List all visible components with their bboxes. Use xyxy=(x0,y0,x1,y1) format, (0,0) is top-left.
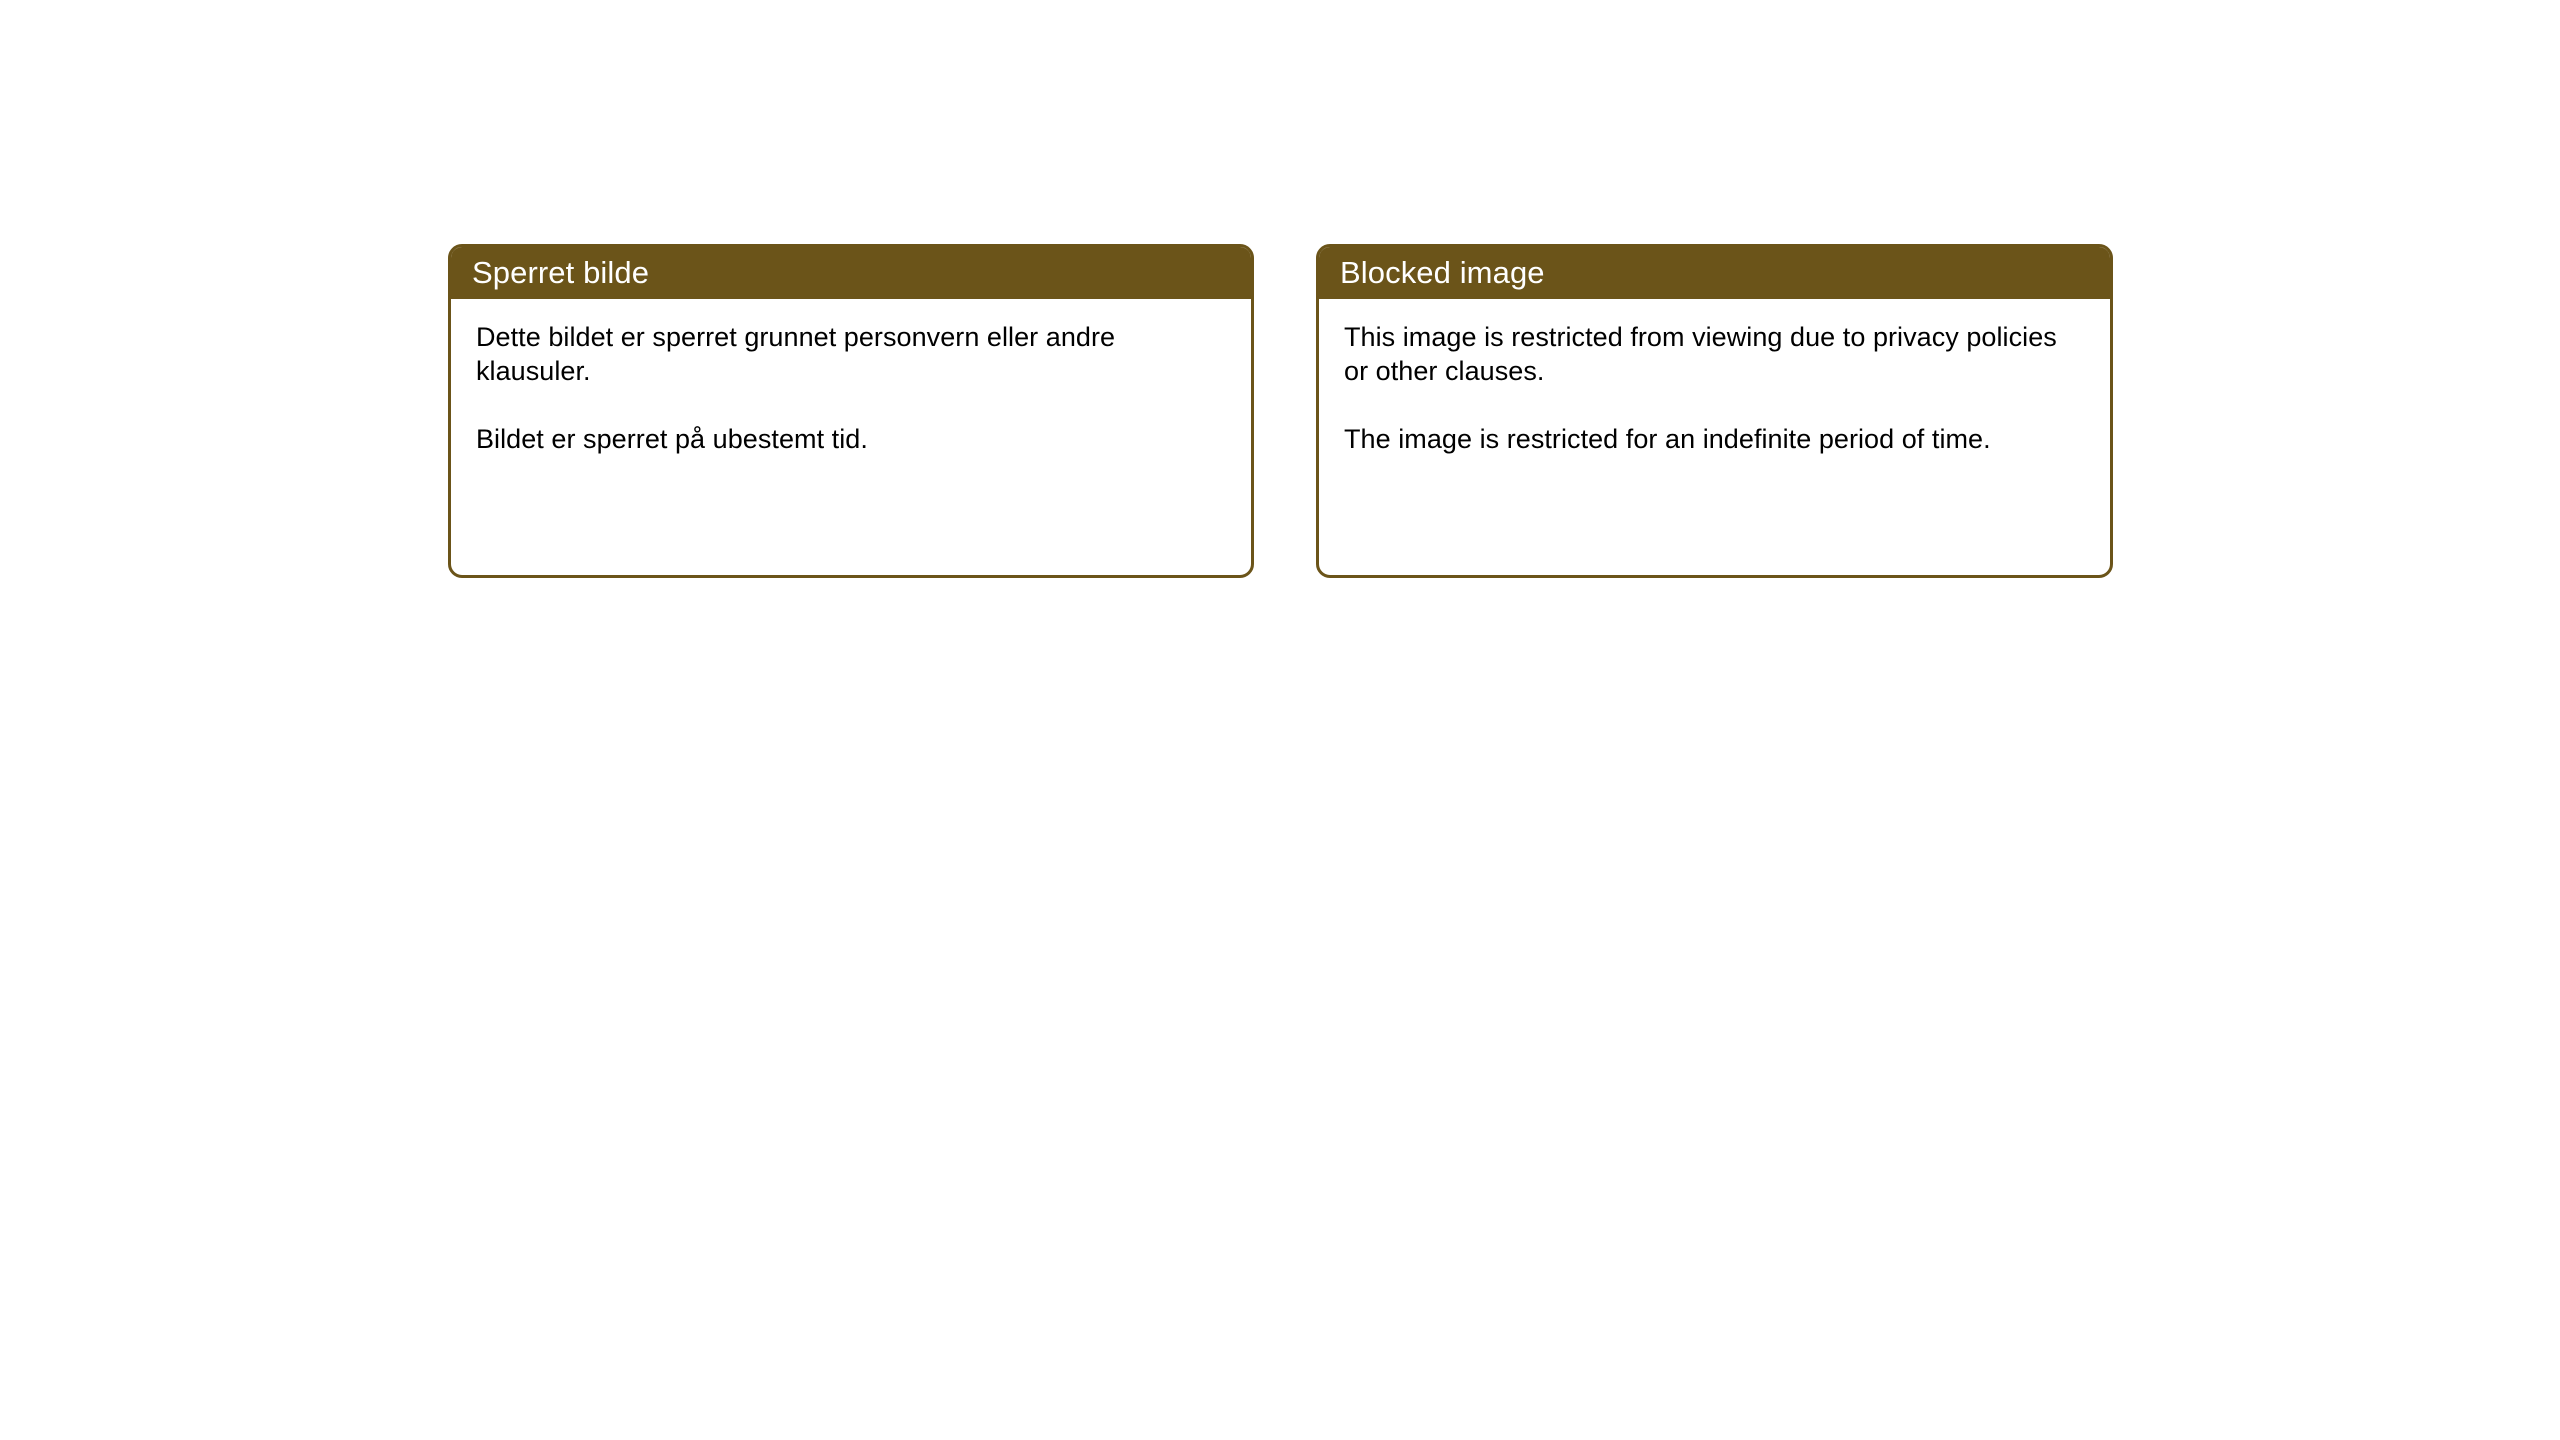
card-body-no: Dette bildet er sperret grunnet personve… xyxy=(451,299,1251,456)
card-paragraph-en-1: This image is restricted from viewing du… xyxy=(1344,321,2084,389)
card-header-en: Blocked image xyxy=(1318,246,2111,299)
card-paragraph-no-2: Bildet er sperret på ubestemt tid. xyxy=(476,423,1225,457)
blocked-image-notice-card-en: Blocked image This image is restricted f… xyxy=(1316,244,2113,578)
card-paragraph-no-1: Dette bildet er sperret grunnet personve… xyxy=(476,321,1225,389)
card-title-en: Blocked image xyxy=(1340,257,1545,288)
card-header-no: Sperret bilde xyxy=(450,246,1252,299)
blocked-image-notice-card-no: Sperret bilde Dette bildet er sperret gr… xyxy=(448,244,1254,578)
card-body-en: This image is restricted from viewing du… xyxy=(1319,299,2110,456)
card-title-no: Sperret bilde xyxy=(472,257,649,288)
card-paragraph-en-2: The image is restricted for an indefinit… xyxy=(1344,423,2084,457)
page-root: Sperret bilde Dette bildet er sperret gr… xyxy=(0,0,2560,1440)
